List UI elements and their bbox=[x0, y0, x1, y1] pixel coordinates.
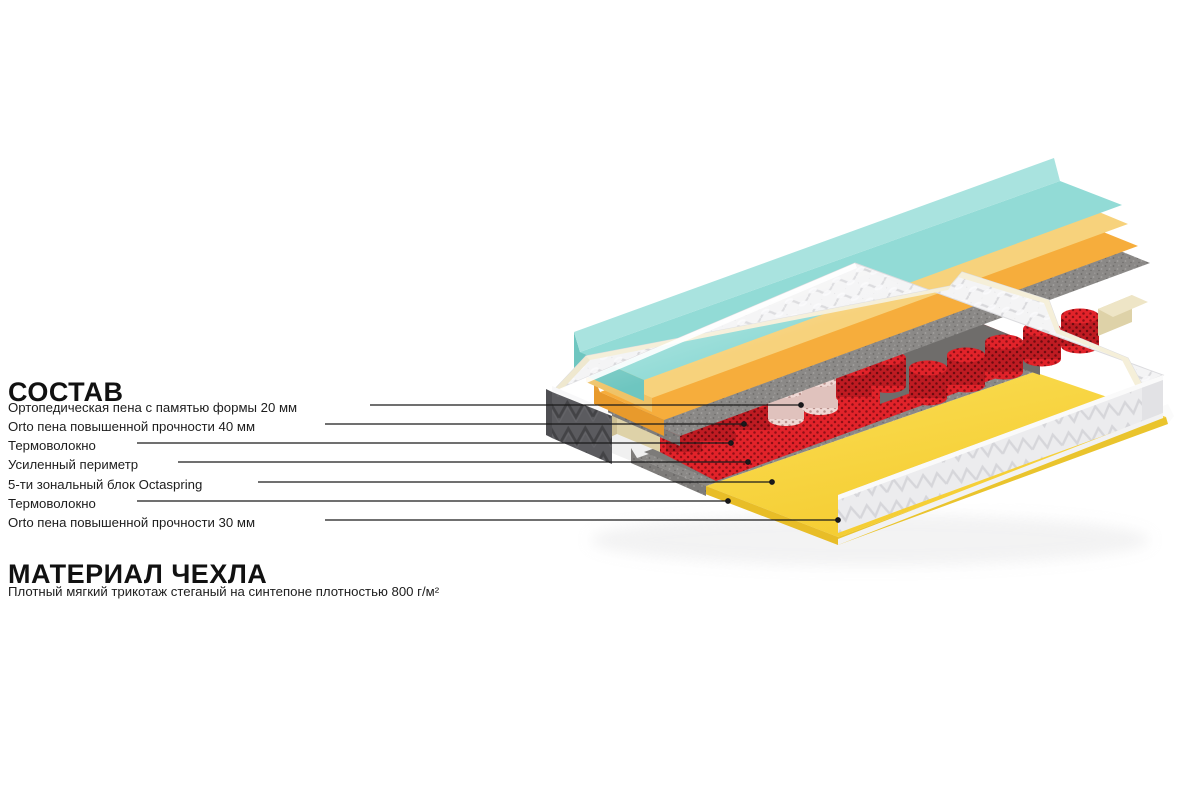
page-root: СОСТАВ Ортопедическая пена с памятью фор… bbox=[0, 0, 1191, 794]
mattress-dark-side-main bbox=[0, 0, 1191, 794]
spec-item-orto-foam-top: Orto пена повышенной прочности 40 мм bbox=[8, 417, 255, 436]
spec-label: Orto пена повышенной прочности 40 мм bbox=[8, 419, 255, 434]
spec-item-octaspring-block: 5-ти зональный блок Octaspring bbox=[8, 475, 202, 494]
spec-item-reinforced-perimeter: Усиленный периметр bbox=[8, 455, 138, 474]
spec-item-memory-foam: Ортопедическая пена с памятью формы 20 м… bbox=[8, 398, 297, 417]
spec-item-thermofiber-bottom: Термоволокно bbox=[8, 494, 96, 513]
spec-label: 5-ти зональный блок Octaspring bbox=[8, 477, 202, 492]
spec-label: Термоволокно bbox=[8, 496, 96, 511]
spec-label: Термоволокно bbox=[8, 438, 96, 453]
spec-item-thermofiber-top: Термоволокно bbox=[8, 436, 96, 455]
spec-label: Ортопедическая пена с памятью формы 20 м… bbox=[8, 400, 297, 415]
cover-material-description: Плотный мягкий трикотаж стеганый на синт… bbox=[8, 582, 439, 601]
spec-label: Orto пена повышенной прочности 30 мм bbox=[8, 515, 255, 530]
spec-item-orto-foam-bottom: Orto пена повышенной прочности 30 мм bbox=[8, 513, 255, 532]
spec-label: Усиленный периметр bbox=[8, 457, 138, 472]
